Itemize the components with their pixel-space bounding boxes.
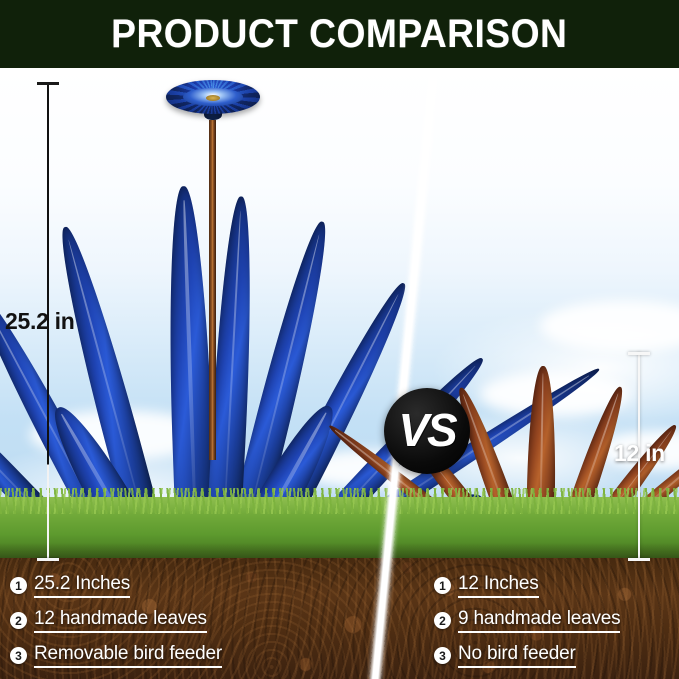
left-feature-list: 1 25.2 Inches 2 12 handmade leaves 3 Rem… <box>10 568 222 673</box>
feature-number-badge: 1 <box>10 577 27 594</box>
feature-item: 2 12 handmade leaves <box>10 603 222 638</box>
measure-cap-top <box>37 82 59 85</box>
header-banner: PRODUCT COMPARISON <box>0 0 679 68</box>
bowl-center-fitting <box>206 95 220 101</box>
feature-number-badge: 3 <box>434 647 451 664</box>
measure-cap-bottom <box>628 558 650 561</box>
measure-cap-bottom <box>37 558 59 561</box>
measure-cap-top <box>628 352 650 355</box>
right-measurement-label: 12 in <box>614 440 665 467</box>
versus-badge-label: VS <box>398 407 455 453</box>
feature-label: No bird feeder <box>458 643 576 668</box>
feature-label: 25.2 Inches <box>34 573 130 598</box>
bird-feeder-bowl <box>166 80 260 122</box>
feature-label: Removable bird feeder <box>34 643 222 668</box>
page-title: PRODUCT COMPARISON <box>111 12 567 57</box>
feature-label: 12 handmade leaves <box>34 608 207 633</box>
feature-label: 9 handmade leaves <box>458 608 620 633</box>
feature-item: 3 Removable bird feeder <box>10 638 222 673</box>
grass-band <box>0 497 679 565</box>
feature-number-badge: 2 <box>434 612 451 629</box>
feature-item: 1 12 Inches <box>434 568 620 603</box>
feature-number-badge: 3 <box>10 647 27 664</box>
product-comparison-image: 25.2 in 12 in VS 1 25.2 Inches 2 12 hand… <box>0 0 679 679</box>
feature-number-badge: 2 <box>10 612 27 629</box>
feature-label: 12 Inches <box>458 573 539 598</box>
versus-badge: VS <box>384 388 470 474</box>
feature-item: 1 25.2 Inches <box>10 568 222 603</box>
right-feature-list: 1 12 Inches 2 9 handmade leaves 3 No bir… <box>434 568 620 673</box>
feature-item: 2 9 handmade leaves <box>434 603 620 638</box>
bird-feeder-stem <box>209 120 216 460</box>
feature-item: 3 No bird feeder <box>434 638 620 673</box>
feature-number-badge: 1 <box>434 577 451 594</box>
left-measurement-label: 25.2 in <box>5 308 75 335</box>
